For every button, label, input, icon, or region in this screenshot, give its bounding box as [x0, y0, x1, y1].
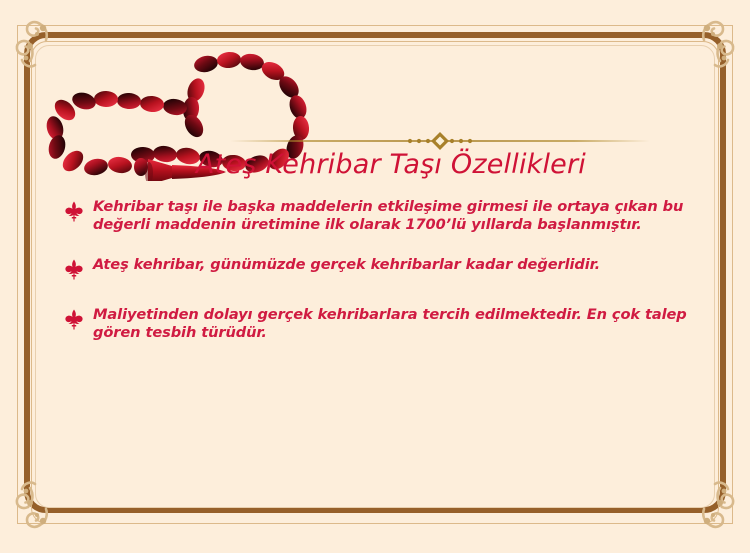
list-item: Ateş kehribar, günümüzde gerçek kehribar…	[64, 256, 704, 280]
corner-flourish-icon-top-left	[10, 12, 82, 84]
list-item-text: Ateş kehribar, günümüzde gerçek kehribar…	[93, 256, 704, 274]
corner-flourish-icon-bottom-right	[668, 465, 740, 537]
list-item: Kehribar taşı ile başka maddelerin etkil…	[64, 198, 704, 234]
feature-list: Kehribar taşı ile başka maddelerin etkil…	[64, 198, 704, 342]
gold-diamond-divider	[230, 131, 650, 151]
corner-flourish-icon-bottom-left	[10, 465, 82, 537]
fleur-de-lis-icon	[64, 259, 84, 280]
corner-flourish-icon-top-right	[668, 12, 740, 84]
list-item: Maliyetinden dolayı gerçek kehribarlara …	[64, 306, 704, 342]
list-item-text: Maliyetinden dolayı gerçek kehribarlara …	[93, 306, 704, 342]
fleur-de-lis-icon	[64, 201, 84, 222]
fleur-de-lis-icon	[64, 309, 84, 330]
list-item-text: Kehribar taşı ile başka maddelerin etkil…	[93, 198, 704, 234]
page-title: Ateş Kehribar Taşı Özellikleri	[196, 149, 716, 180]
certificate-card: Ateş Kehribar Taşı Özellikleri Kehribar …	[0, 0, 750, 553]
